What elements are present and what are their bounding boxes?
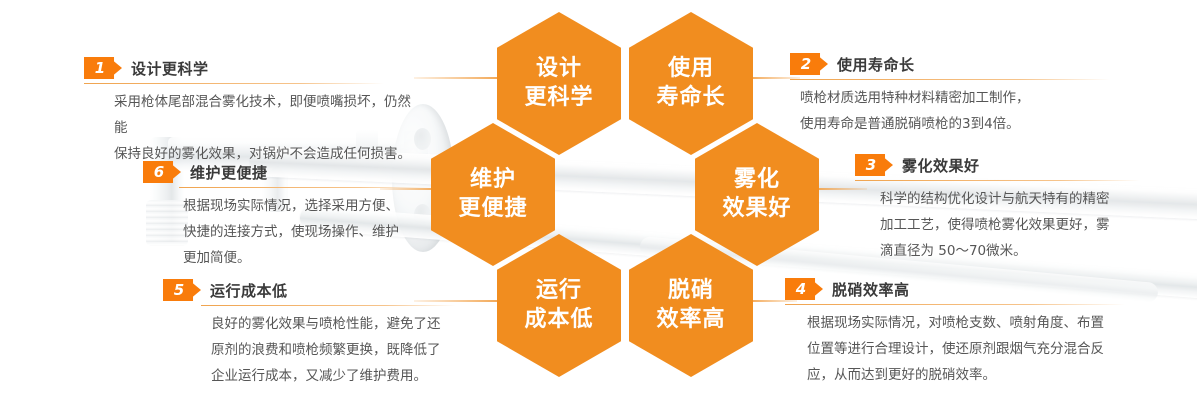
- number-badge-4: 4: [785, 278, 823, 300]
- feature-6-body: 根据现场实际情况，选择采用方便、 快捷的连接方式，使现场操作、维护 更加简便。: [143, 194, 433, 272]
- number-badge-5: 5: [163, 279, 201, 301]
- hexagon-cost-line1: 运行: [524, 277, 593, 306]
- feature-block-1: 1 设计更科学 采用枪体尾部混合雾化技术，即便喷嘴损坏，仍然能 保持良好的雾化效…: [84, 56, 414, 168]
- hexagon-cost-line2: 成本低: [524, 306, 593, 335]
- feature-block-6: 6 维护更便捷 根据现场实际情况，选择采用方便、 快捷的连接方式，使现场操作、维…: [143, 160, 433, 272]
- connector-line-1: [414, 77, 506, 79]
- feature-block-5: 5 运行成本低 良好的雾化效果与喷枪性能，避免了还 原剂的浪费和喷枪频繁更换，既…: [163, 278, 473, 390]
- hexagon-denitration-line1: 脱硝: [656, 277, 725, 306]
- hexagon-lifespan[interactable]: 使用 寿命长: [629, 12, 753, 155]
- feature-4-title: 脱硝效率高: [832, 279, 910, 300]
- hexagon-atomization-line1: 雾化: [722, 166, 791, 195]
- hexagon-maintenance[interactable]: 维护 更便捷: [431, 123, 555, 266]
- feature-4-header: 4 脱硝效率高: [785, 277, 1155, 301]
- hexagon-atomization-line2: 效果好: [722, 195, 791, 224]
- feature-block-2: 2 使用寿命长 喷枪材质选用特种材料精密加工制作， 使用寿命是普通脱硝喷枪的3到…: [790, 52, 1120, 138]
- hexagon-design-line1: 设计: [524, 55, 593, 84]
- hexagon-maintenance-line1: 维护: [458, 166, 527, 195]
- feature-2-body: 喷枪材质选用特种材料精密加工制作， 使用寿命是普通脱硝喷枪的3到4倍。: [790, 86, 1120, 138]
- infographic-canvas: 设计 更科学 使用 寿命长 维护 更便捷 雾化 效果好 运行 成本低 脱硝 效率…: [0, 0, 1197, 413]
- feature-4-body: 根据现场实际情况，对喷枪支数、喷射角度、布置 位置等进行合理设计，使还原剂跟烟气…: [785, 311, 1155, 389]
- hexagon-denitration-line2: 效率高: [656, 306, 725, 335]
- hexagon-lifespan-line1: 使用: [656, 55, 725, 84]
- feature-5-divider: [201, 305, 456, 306]
- hexagon-design[interactable]: 设计 更科学: [497, 12, 621, 155]
- feature-block-4: 4 脱硝效率高 根据现场实际情况，对喷枪支数、喷射角度、布置 位置等进行合理设计…: [785, 277, 1155, 389]
- feature-1-divider: [84, 83, 384, 84]
- hexagon-denitration[interactable]: 脱硝 效率高: [629, 234, 753, 377]
- feature-6-title: 维护更便捷: [190, 162, 268, 183]
- feature-4-divider: [785, 304, 1125, 305]
- hexagon-lifespan-line2: 寿命长: [656, 84, 725, 113]
- hexagon-design-line2: 更科学: [524, 84, 593, 113]
- number-badge-3: 3: [855, 154, 893, 176]
- feature-5-title: 运行成本低: [210, 280, 288, 301]
- feature-3-header: 3 雾化效果好: [855, 153, 1155, 177]
- feature-2-header: 2 使用寿命长: [790, 52, 1120, 76]
- feature-6-header: 6 维护更便捷: [143, 160, 433, 184]
- number-badge-6: 6: [143, 161, 181, 183]
- feature-1-body: 采用枪体尾部混合雾化技术，即便喷嘴损坏，仍然能 保持良好的雾化效果，对锅炉不会造…: [84, 90, 414, 168]
- feature-2-title: 使用寿命长: [837, 54, 915, 75]
- hexagon-cost[interactable]: 运行 成本低: [497, 234, 621, 377]
- feature-3-divider: [855, 180, 1140, 181]
- feature-2-divider: [790, 79, 1110, 80]
- feature-6-divider: [179, 187, 429, 188]
- hexagon-atomization[interactable]: 雾化 效果好: [695, 123, 819, 266]
- feature-3-title: 雾化效果好: [902, 155, 980, 176]
- feature-1-header: 1 设计更科学: [84, 56, 414, 80]
- feature-5-body: 良好的雾化效果与喷枪性能，避免了还 原剂的浪费和喷枪频繁更换，既降低了 企业运行…: [163, 312, 473, 390]
- number-badge-1: 1: [84, 57, 122, 79]
- hexagon-maintenance-line2: 更便捷: [458, 195, 527, 224]
- feature-1-title: 设计更科学: [131, 58, 209, 79]
- feature-block-3: 3 雾化效果好 科学的结构优化设计与航天特有的精密 加工工艺，使得喷枪雾化效果更…: [855, 153, 1155, 265]
- number-badge-2: 2: [790, 53, 828, 75]
- feature-5-header: 5 运行成本低: [163, 278, 473, 302]
- feature-3-body: 科学的结构优化设计与航天特有的精密 加工工艺，使得喷枪雾化效果更好，雾 滴直径为…: [855, 187, 1155, 265]
